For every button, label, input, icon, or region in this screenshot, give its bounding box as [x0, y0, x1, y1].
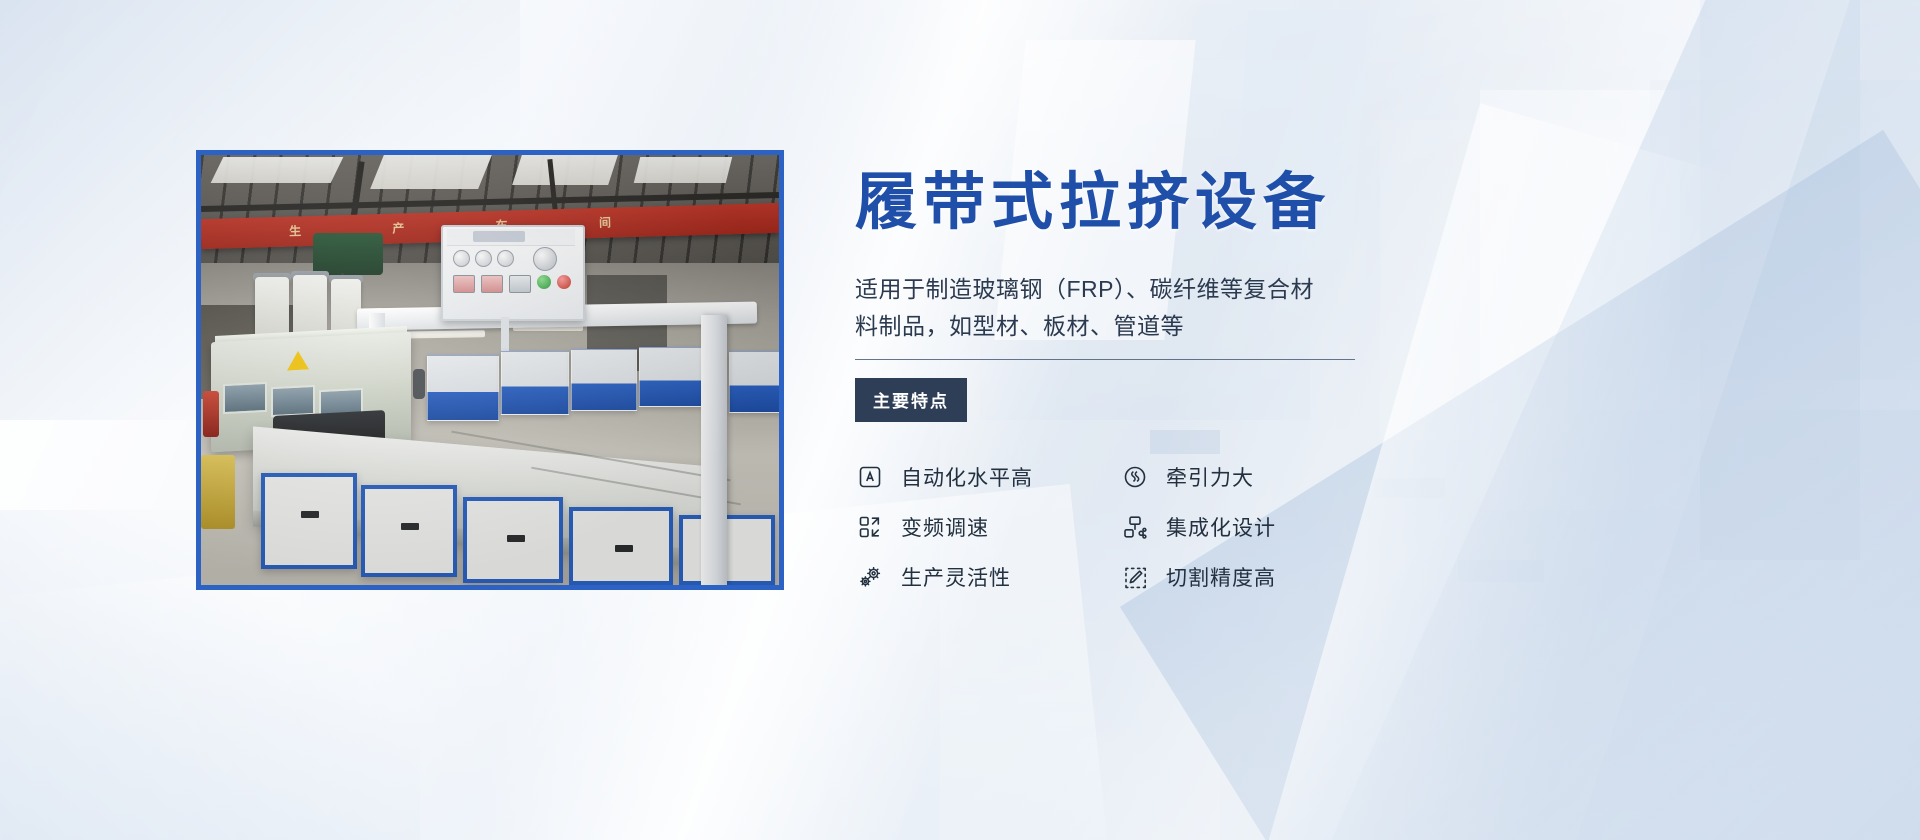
subtitle-line-1: 适用于制造玻璃钢（FRP）、碳纤维等复合材	[855, 271, 1355, 308]
bg-shape	[1458, 560, 1544, 582]
feature-row: 自动化水平高 牵引力大	[855, 452, 1375, 502]
section-divider	[855, 359, 1355, 360]
frequency-speed-icon	[855, 512, 885, 542]
banner-content: 履带式拉挤设备 适用于制造玻璃钢（FRP）、碳纤维等复合材 料制品，如型材、板材…	[855, 150, 1375, 602]
integrated-design-icon	[1120, 512, 1150, 542]
bg-shape	[1375, 478, 1445, 498]
traction-waves-circle-icon	[1120, 462, 1150, 492]
product-banner: 生 产 车 间	[0, 0, 1920, 840]
feature-item-traction: 牵引力大	[1120, 452, 1375, 502]
feature-list: 自动化水平高 牵引力大	[855, 452, 1375, 602]
feature-item-integrated: 集成化设计	[1120, 502, 1375, 552]
feature-label: 牵引力大	[1166, 462, 1254, 492]
status-badge: 主要特点	[855, 378, 967, 422]
feature-label: 切割精度高	[1166, 562, 1276, 592]
feature-item-cutting: 切割精度高	[1120, 552, 1375, 602]
bg-diagonal	[1321, 0, 1920, 840]
feature-label: 自动化水平高	[901, 462, 1033, 492]
bg-shape	[1700, 0, 1860, 560]
feature-row: 生产灵活性 切割精度高	[855, 552, 1375, 602]
feature-item-frequency: 变频调速	[855, 502, 1110, 552]
gears-flexibility-icon	[855, 562, 885, 592]
page-title: 履带式拉挤设备	[855, 170, 1375, 237]
product-photo: 生 产 车 间	[196, 150, 784, 590]
feature-label: 变频调速	[901, 512, 989, 542]
banner-subtitle: 适用于制造玻璃钢（FRP）、碳纤维等复合材 料制品，如型材、板材、管道等	[855, 271, 1355, 346]
feature-item-flexibility: 生产灵活性	[855, 552, 1110, 602]
bg-shape	[1480, 90, 1680, 510]
automation-panel-icon	[855, 462, 885, 492]
subtitle-line-2: 料制品，如型材、板材、管道等	[855, 308, 1355, 345]
photo-grade-overlay	[201, 155, 779, 585]
cutting-precision-pen-icon	[1120, 562, 1150, 592]
feature-item-automation: 自动化水平高	[855, 452, 1110, 502]
feature-label: 生产灵活性	[901, 562, 1011, 592]
feature-label: 集成化设计	[1166, 512, 1276, 542]
feature-row: 变频调速 集成化设计	[855, 502, 1375, 552]
